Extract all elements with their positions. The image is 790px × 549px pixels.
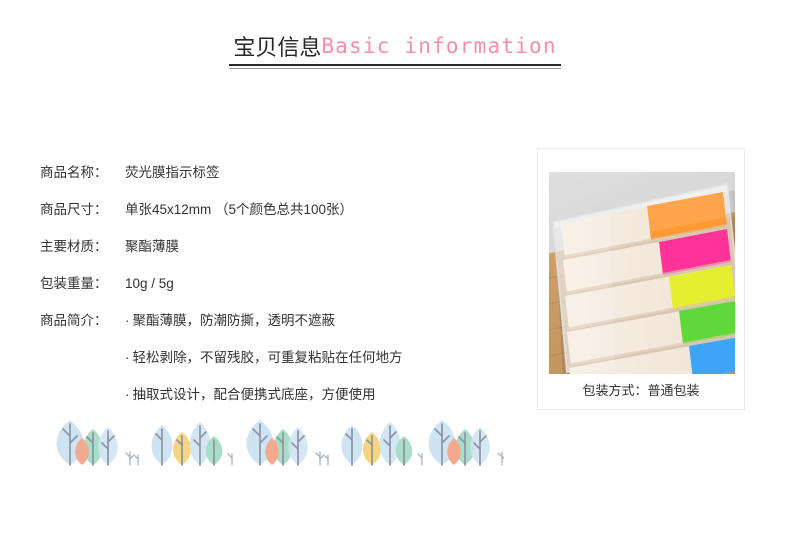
info-label: 商品尺寸： — [40, 200, 125, 220]
bullet-dot-icon: · — [125, 387, 130, 402]
description-bullet-list: ·聚酯薄膜，防潮防撕，透明不遮蔽 ·轻松剥除，不留残胶，可重复粘贴在任何地方 ·… — [125, 311, 403, 422]
title-underline-thick — [229, 64, 560, 66]
info-label-description: 商品简介： — [40, 311, 125, 331]
info-value: 聚酯薄膜 — [125, 237, 179, 257]
info-value: 单张45x12mm （5个颜色总共100张） — [125, 200, 353, 220]
product-info-list: 商品名称： 荧光膜指示标签 商品尺寸： 单张45x12mm （5个颜色总共100… — [40, 163, 510, 422]
info-row-size: 商品尺寸： 单张45x12mm （5个颜色总共100张） — [40, 200, 510, 237]
info-row-material: 主要材质： 聚酯薄膜 — [40, 237, 510, 274]
page-title: 宝贝信息Basic information — [0, 30, 790, 69]
info-row-weight: 包装重量： 10g / 5g — [40, 274, 510, 311]
description-bullet-text: 聚酯薄膜，防潮防撕，透明不遮蔽 — [133, 313, 336, 328]
info-value: 荧光膜指示标签 — [125, 163, 220, 183]
info-label: 商品名称： — [40, 163, 125, 183]
bullet-dot-icon: · — [125, 313, 130, 328]
page-title-en: Basic information — [321, 34, 556, 58]
info-row-description: 商品简介： ·聚酯薄膜，防潮防撕，透明不遮蔽 ·轻松剥除，不留残胶，可重复粘贴在… — [40, 311, 510, 422]
description-bullet: ·轻松剥除，不留残胶，可重复粘贴在任何地方 — [125, 348, 403, 385]
info-row-name: 商品名称： 荧光膜指示标签 — [40, 163, 510, 200]
description-bullet-text: 轻松剥除，不留残胶，可重复粘贴在任何地方 — [133, 350, 403, 365]
product-caption: 包装方式：普通包装 — [538, 380, 744, 399]
info-label: 主要材质： — [40, 237, 125, 257]
product-photo — [549, 172, 735, 374]
description-bullet: ·聚酯薄膜，防潮防撕，透明不遮蔽 — [125, 311, 403, 348]
bullet-dot-icon: · — [125, 350, 130, 365]
tree-border-icon — [46, 412, 504, 468]
tree-border-decoration — [46, 412, 504, 468]
info-label: 包装重量： — [40, 274, 125, 294]
page-title-inner: 宝贝信息Basic information — [229, 30, 560, 69]
fluorescent-index-tabs-illustration — [549, 172, 735, 374]
title-underline-thin — [229, 68, 560, 69]
info-value: 10g / 5g — [125, 274, 174, 294]
page-title-cn: 宝贝信息 — [233, 35, 321, 60]
product-image-card: 包装方式：普通包装 — [537, 148, 745, 410]
description-bullet-text: 抽取式设计，配合便携式底座，方便使用 — [133, 387, 376, 402]
